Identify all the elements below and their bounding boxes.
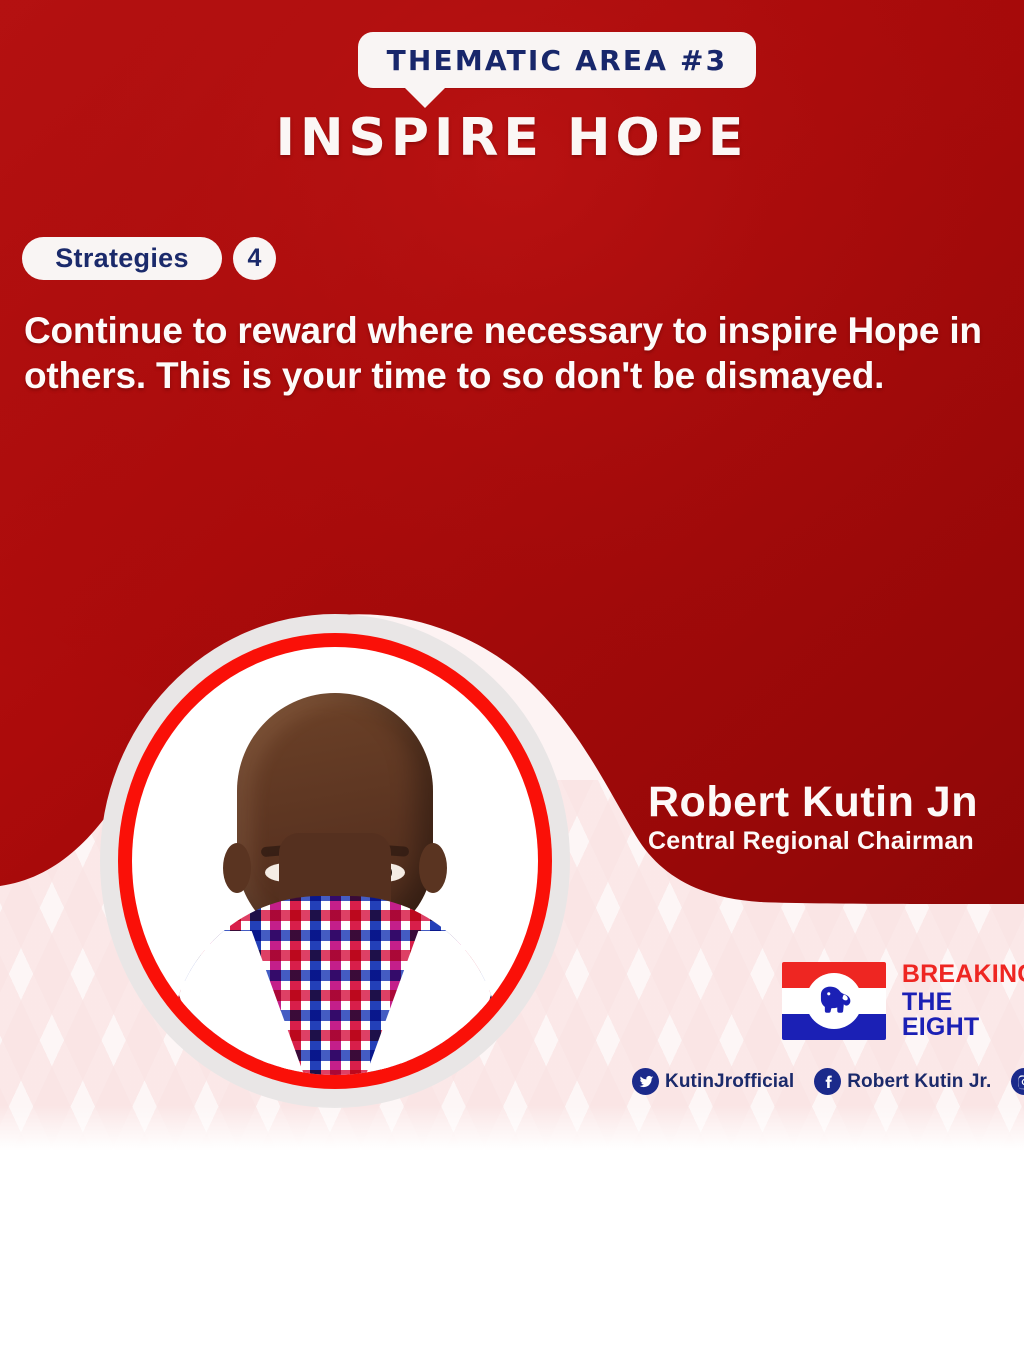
- strategies-label: Strategies: [55, 243, 189, 274]
- party-slogan: BREAKING THE EIGHT: [902, 962, 1024, 1040]
- thematic-area-label: THEMATIC AREA #3: [387, 44, 728, 77]
- poster-canvas: THEMATIC AREA #3 INSPIRE HOPE Strategies…: [0, 0, 1024, 1168]
- portrait-ear-right: [419, 843, 447, 893]
- facebook-icon: [814, 1068, 841, 1095]
- strategy-body-text: Continue to reward where necessary to in…: [24, 308, 1024, 398]
- portrait-frame: [100, 614, 570, 1108]
- party-flag-icon: [782, 962, 886, 1040]
- social-handles-row: KutinJrofficial Robert Kutin Jr. Robe: [632, 1068, 1024, 1095]
- slogan-line-2: THE EIGHT: [902, 990, 1024, 1040]
- flag-emblem-disc: [806, 973, 862, 1029]
- social-facebook[interactable]: Robert Kutin Jr.: [814, 1068, 991, 1095]
- party-logo: BREAKING THE EIGHT: [782, 962, 1024, 1040]
- thematic-area-badge: THEMATIC AREA #3: [358, 32, 756, 88]
- bottom-fade: [0, 1105, 1024, 1168]
- portrait-collar-right: [364, 931, 500, 1075]
- strategies-count-badge: 4: [233, 237, 276, 280]
- person-name-block: Robert Kutin Jn Central Regional Chairma…: [648, 778, 1024, 856]
- portrait-shirt: [170, 896, 500, 1075]
- slogan-line-1: BREAKING: [902, 962, 1024, 987]
- strategies-count: 4: [248, 244, 262, 273]
- twitter-handle: KutinJrofficial: [665, 1071, 794, 1093]
- badge-tail: [403, 86, 447, 108]
- social-instagram[interactable]: Robe: [1011, 1068, 1024, 1095]
- elephant-icon: [813, 984, 855, 1018]
- letterbox-area: [0, 1168, 1024, 1365]
- portrait-photo: [132, 647, 538, 1075]
- person-role: Central Regional Chairman: [648, 826, 1024, 856]
- instagram-icon: [1011, 1068, 1024, 1095]
- portrait-collar-left: [170, 931, 306, 1075]
- portrait-ear-left: [223, 843, 251, 893]
- facebook-handle: Robert Kutin Jr.: [847, 1071, 991, 1093]
- twitter-icon: [632, 1068, 659, 1095]
- page-title: INSPIRE HOPE: [0, 108, 1024, 168]
- strategies-row: Strategies 4: [22, 237, 276, 280]
- strategies-pill: Strategies: [22, 237, 222, 280]
- person-name: Robert Kutin Jn: [648, 778, 1024, 826]
- social-twitter[interactable]: KutinJrofficial: [632, 1068, 794, 1095]
